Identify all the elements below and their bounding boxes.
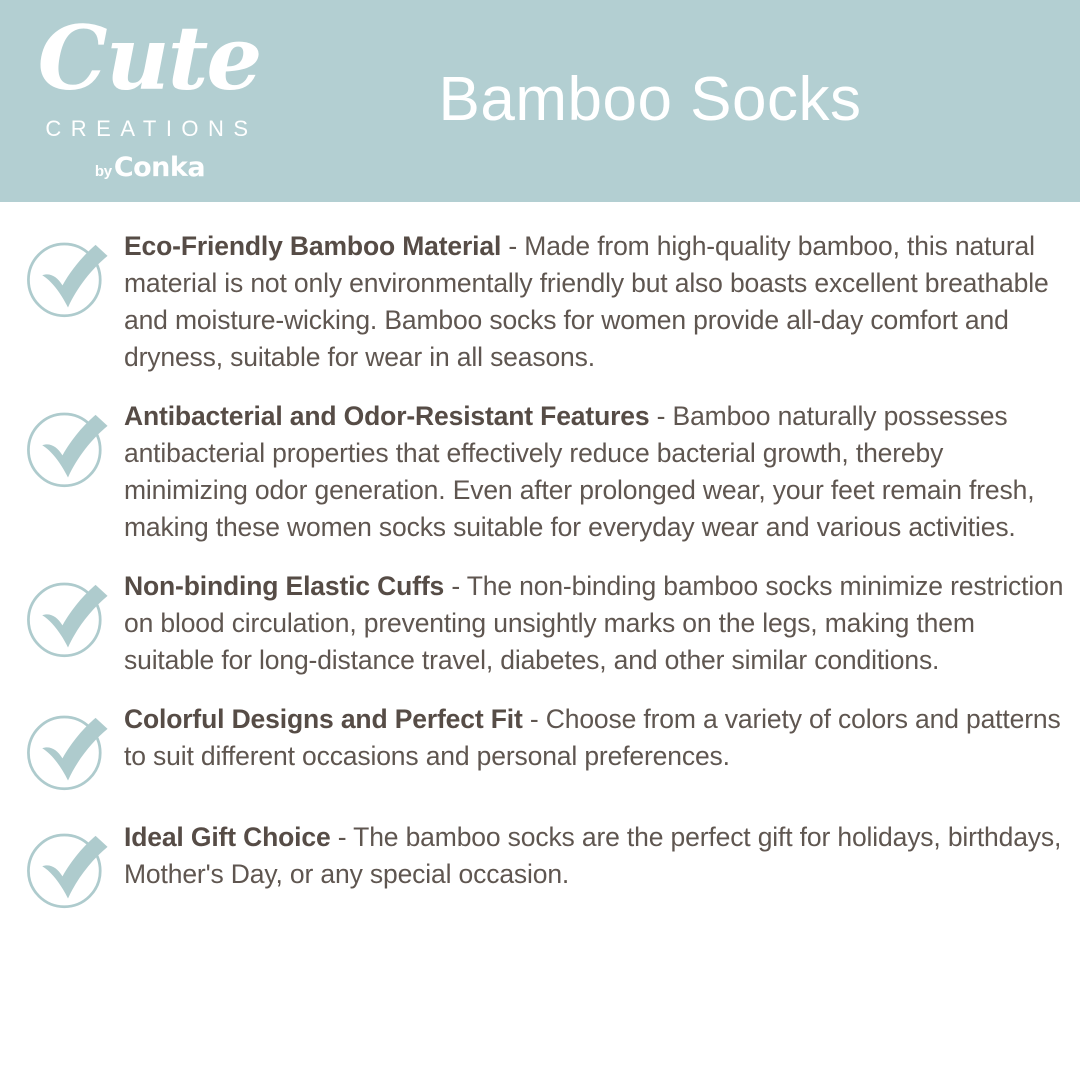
check-circle-icon-glyph [22, 823, 114, 915]
infographic-page: Cute CREATIONS by Conka Bamboo Socks Eco… [0, 0, 1080, 1080]
check-circle-icon [12, 819, 124, 915]
feature-title: Eco-Friendly Bamboo Material [124, 231, 501, 261]
feature-title: Colorful Designs and Perfect Fit [124, 704, 523, 734]
check-circle-icon [12, 228, 124, 324]
brand-parent-name: Conka [114, 154, 205, 182]
check-circle-icon-glyph [22, 232, 114, 324]
check-circle-icon-glyph [22, 705, 114, 797]
page-title: Bamboo Socks [300, 60, 1000, 140]
feature-item: Ideal Gift Choice - The bamboo socks are… [12, 819, 1074, 915]
feature-title: Ideal Gift Choice [124, 822, 331, 852]
feature-text: Ideal Gift Choice - The bamboo socks are… [124, 819, 1074, 893]
check-circle-icon-glyph [22, 402, 114, 494]
check-circle-icon [12, 398, 124, 494]
feature-item: Colorful Designs and Perfect Fit - Choos… [12, 701, 1074, 797]
brand-subtitle: CREATIONS [22, 114, 272, 144]
feature-item: Eco-Friendly Bamboo Material - Made from… [12, 228, 1074, 376]
feature-title: Antibacterial and Odor-Resistant Feature… [124, 401, 649, 431]
feature-item: Antibacterial and Odor-Resistant Feature… [12, 398, 1074, 546]
feature-text: Non-binding Elastic Cuffs - The non-bind… [124, 568, 1074, 679]
brand-logo: Cute CREATIONS by Conka [22, 4, 272, 182]
check-circle-icon [12, 701, 124, 797]
brand-by-label: by [95, 164, 112, 180]
header-band: Cute CREATIONS by Conka Bamboo Socks [0, 0, 1080, 202]
brand-script-wordmark: Cute [22, 4, 272, 112]
check-circle-icon-glyph [22, 572, 114, 664]
feature-text: Antibacterial and Odor-Resistant Feature… [124, 398, 1074, 546]
feature-title: Non-binding Elastic Cuffs [124, 571, 444, 601]
brand-parent-lockup: by Conka [22, 154, 272, 182]
feature-text: Eco-Friendly Bamboo Material - Made from… [124, 228, 1074, 376]
feature-list: Eco-Friendly Bamboo Material - Made from… [0, 202, 1080, 915]
feature-item: Non-binding Elastic Cuffs - The non-bind… [12, 568, 1074, 679]
check-circle-icon [12, 568, 124, 664]
feature-text: Colorful Designs and Perfect Fit - Choos… [124, 701, 1074, 775]
